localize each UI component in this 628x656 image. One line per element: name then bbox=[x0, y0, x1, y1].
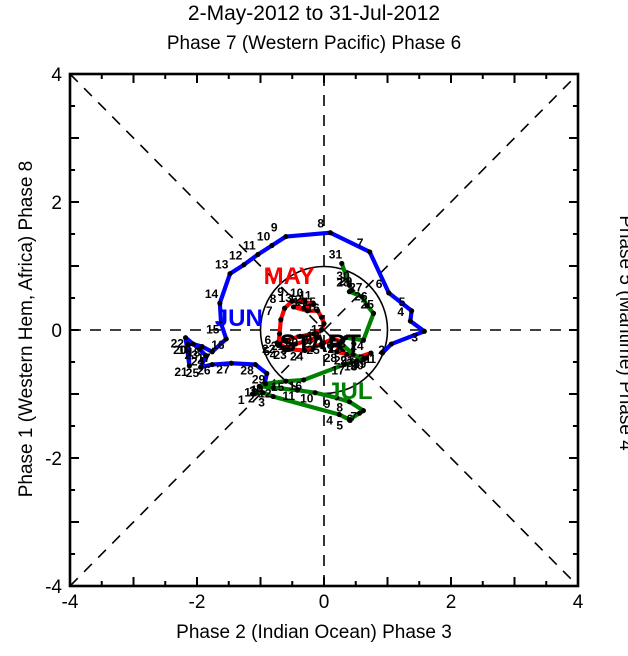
x-tick-label: 4 bbox=[573, 592, 584, 613]
data-point bbox=[283, 234, 288, 239]
day-label: 6 bbox=[376, 277, 383, 291]
month-label-jun: JUN bbox=[215, 305, 263, 332]
day-label: 13 bbox=[279, 291, 293, 305]
y-tick-label: 2 bbox=[51, 193, 62, 214]
day-label: 30 bbox=[336, 269, 350, 283]
day-label: 10 bbox=[300, 392, 314, 406]
day-label: 1 bbox=[369, 352, 376, 366]
day-label: 2 bbox=[378, 343, 385, 357]
y-tick-label: 4 bbox=[51, 65, 62, 86]
data-point bbox=[269, 243, 274, 248]
y-tick-label: -2 bbox=[45, 449, 62, 470]
data-point bbox=[371, 311, 376, 316]
day-label: 5 bbox=[399, 295, 406, 309]
data-point bbox=[328, 230, 333, 235]
data-point bbox=[282, 306, 287, 311]
data-point bbox=[386, 290, 391, 295]
data-point bbox=[278, 317, 283, 322]
day-label: 31 bbox=[329, 247, 343, 261]
day-label: 8 bbox=[270, 292, 277, 306]
data-point bbox=[389, 341, 394, 346]
x-tick-label: -2 bbox=[189, 592, 206, 613]
data-point bbox=[422, 329, 427, 334]
day-label: 13 bbox=[215, 258, 229, 272]
data-point bbox=[409, 308, 414, 313]
data-point bbox=[408, 318, 413, 323]
data-point bbox=[367, 249, 372, 254]
x-tick-label: -4 bbox=[62, 592, 79, 613]
data-point bbox=[339, 261, 344, 266]
day-label: 9 bbox=[271, 221, 278, 235]
day-label: 8 bbox=[317, 217, 324, 231]
day-label: 7 bbox=[350, 410, 357, 424]
day-label: 16 bbox=[211, 338, 225, 352]
day-label: 27 bbox=[216, 362, 230, 376]
data-point bbox=[227, 271, 232, 276]
data-point bbox=[241, 262, 246, 267]
y-tick-label: -4 bbox=[45, 577, 62, 598]
day-label: 16 bbox=[289, 379, 303, 393]
x-tick-label: 0 bbox=[319, 592, 330, 613]
day-label: 3 bbox=[411, 330, 418, 344]
day-label: 14 bbox=[205, 287, 219, 301]
month-label-may: MAY bbox=[264, 263, 315, 290]
plot-canvas: -4-2024-4-202423456789101112131415161718… bbox=[0, 0, 628, 656]
day-label: 22 bbox=[171, 337, 185, 351]
day-label: 10 bbox=[257, 230, 271, 244]
day-label: 14 bbox=[251, 383, 265, 397]
month-label-jul: JUL bbox=[327, 378, 372, 405]
data-point bbox=[319, 315, 324, 320]
y-tick-label: 0 bbox=[51, 321, 62, 342]
day-label: 15 bbox=[271, 380, 285, 394]
data-point bbox=[361, 408, 366, 413]
day-label: 12 bbox=[229, 249, 243, 263]
data-point bbox=[255, 252, 260, 257]
day-label: 26 bbox=[197, 364, 211, 378]
mjo-phase-diagram: 2-May-2012 to 31-Jul-2012 Phase 7 (Weste… bbox=[0, 0, 628, 656]
day-label: 11 bbox=[243, 238, 256, 252]
day-label: 4 bbox=[326, 413, 333, 427]
start-label: START bbox=[280, 330, 361, 358]
day-label: 5 bbox=[336, 419, 343, 433]
day-label: 16 bbox=[306, 301, 320, 315]
day-label: 7 bbox=[357, 236, 364, 250]
x-tick-label: 2 bbox=[446, 592, 457, 613]
